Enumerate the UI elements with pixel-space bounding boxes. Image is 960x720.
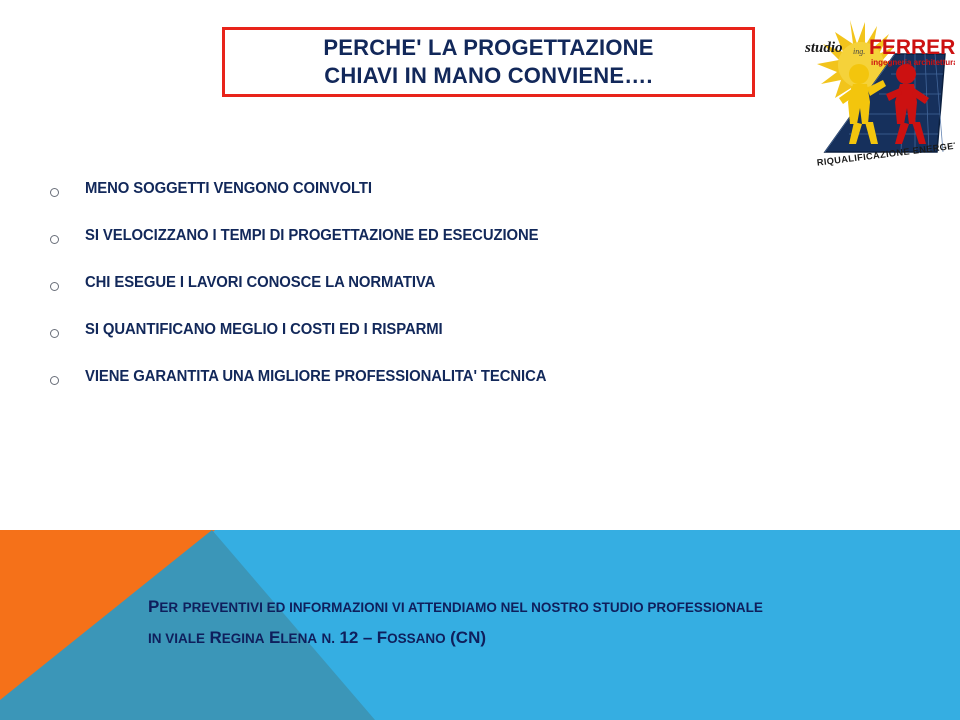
list-item: SI QUANTIFICANO MEGLIO I COSTI ED I RISP… [50, 319, 770, 366]
logo-tagline: ingegneria architettura [871, 58, 955, 67]
footer-l2-province: (CN) [450, 628, 486, 647]
list-item-label: CHI ESEGUE I LAVORI CONOSCE LA NORMATIVA [85, 272, 435, 294]
page-title-line-2: CHIAVI IN MANO CONVIENE…. [324, 62, 653, 90]
list-item: VIENE GARANTITA UNA MIGLIORE PROFESSIONA… [50, 366, 770, 413]
logo-brand-name: FERRERO [869, 36, 955, 59]
footer-line-2: IN VIALE REGINA ELENA N. 12 – FOSSANO (C… [148, 623, 908, 654]
footer-l2-rest-f: OSSANO [387, 631, 446, 646]
footer-l1-body: PREVENTIVI ED INFORMAZIONI VI ATTENDIAMO… [183, 600, 763, 615]
page-title-line-1: PERCHE' LA PROGETTAZIONE [323, 34, 653, 62]
footer-l2-cap-f: F [377, 628, 387, 647]
footer-l2-lead: IN VIALE [148, 631, 205, 646]
bullet-circle-icon [50, 225, 85, 250]
bullet-circle-icon [50, 272, 85, 297]
footer-l2-rest-r: EGINA [222, 631, 265, 646]
logo-brand-ing: ing. [853, 47, 865, 56]
list-item-label: SI VELOCIZZANO I TEMPI DI PROGETTAZIONE … [85, 225, 538, 247]
footer-l2-abbr: N. [322, 631, 336, 646]
footer-l2-cap-r: R [209, 628, 221, 647]
slide-canvas: PERCHE' LA PROGETTAZIONE CHIAVI IN MANO … [0, 0, 960, 720]
list-item-label: MENO SOGGETTI VENGONO COINVOLTI [85, 178, 372, 200]
footer-l1-rest: ER [159, 600, 178, 615]
list-item-label: VIENE GARANTITA UNA MIGLIORE PROFESSIONA… [85, 366, 546, 388]
list-item: SI VELOCIZZANO I TEMPI DI PROGETTAZIONE … [50, 225, 770, 272]
bullet-circle-icon [50, 178, 85, 203]
list-item: MENO SOGGETTI VENGONO COINVOLTI [50, 178, 770, 225]
footer-l2-rest-e: LENA [280, 631, 317, 646]
bullet-circle-icon [50, 366, 85, 391]
footer-banner: PER PREVENTIVI ED INFORMAZIONI VI ATTEND… [0, 530, 960, 720]
footer-l2-dash: – [363, 628, 372, 647]
logo-brand-studio: studio [804, 40, 843, 56]
footer-l2-cap-e: E [269, 628, 280, 647]
footer-text: PER PREVENTIVI ED INFORMAZIONI VI ATTEND… [148, 592, 908, 654]
logo-artwork: studio ing. FERRERO ingegneria architett… [795, 12, 955, 177]
footer-line-1: PER PREVENTIVI ED INFORMAZIONI VI ATTEND… [148, 592, 908, 623]
footer-l2-number: 12 [339, 628, 358, 647]
bullet-list: MENO SOGGETTI VENGONO COINVOLTI SI VELOC… [50, 178, 770, 413]
bullet-circle-icon [50, 319, 85, 344]
list-item: CHI ESEGUE I LAVORI CONOSCE LA NORMATIVA [50, 272, 770, 319]
list-item-label: SI QUANTIFICANO MEGLIO I COSTI ED I RISP… [85, 319, 443, 341]
title-box: PERCHE' LA PROGETTAZIONE CHIAVI IN MANO … [222, 27, 755, 97]
footer-l1-cap: P [148, 597, 159, 616]
company-logo: studio ing. FERRERO ingegneria architett… [795, 12, 955, 177]
